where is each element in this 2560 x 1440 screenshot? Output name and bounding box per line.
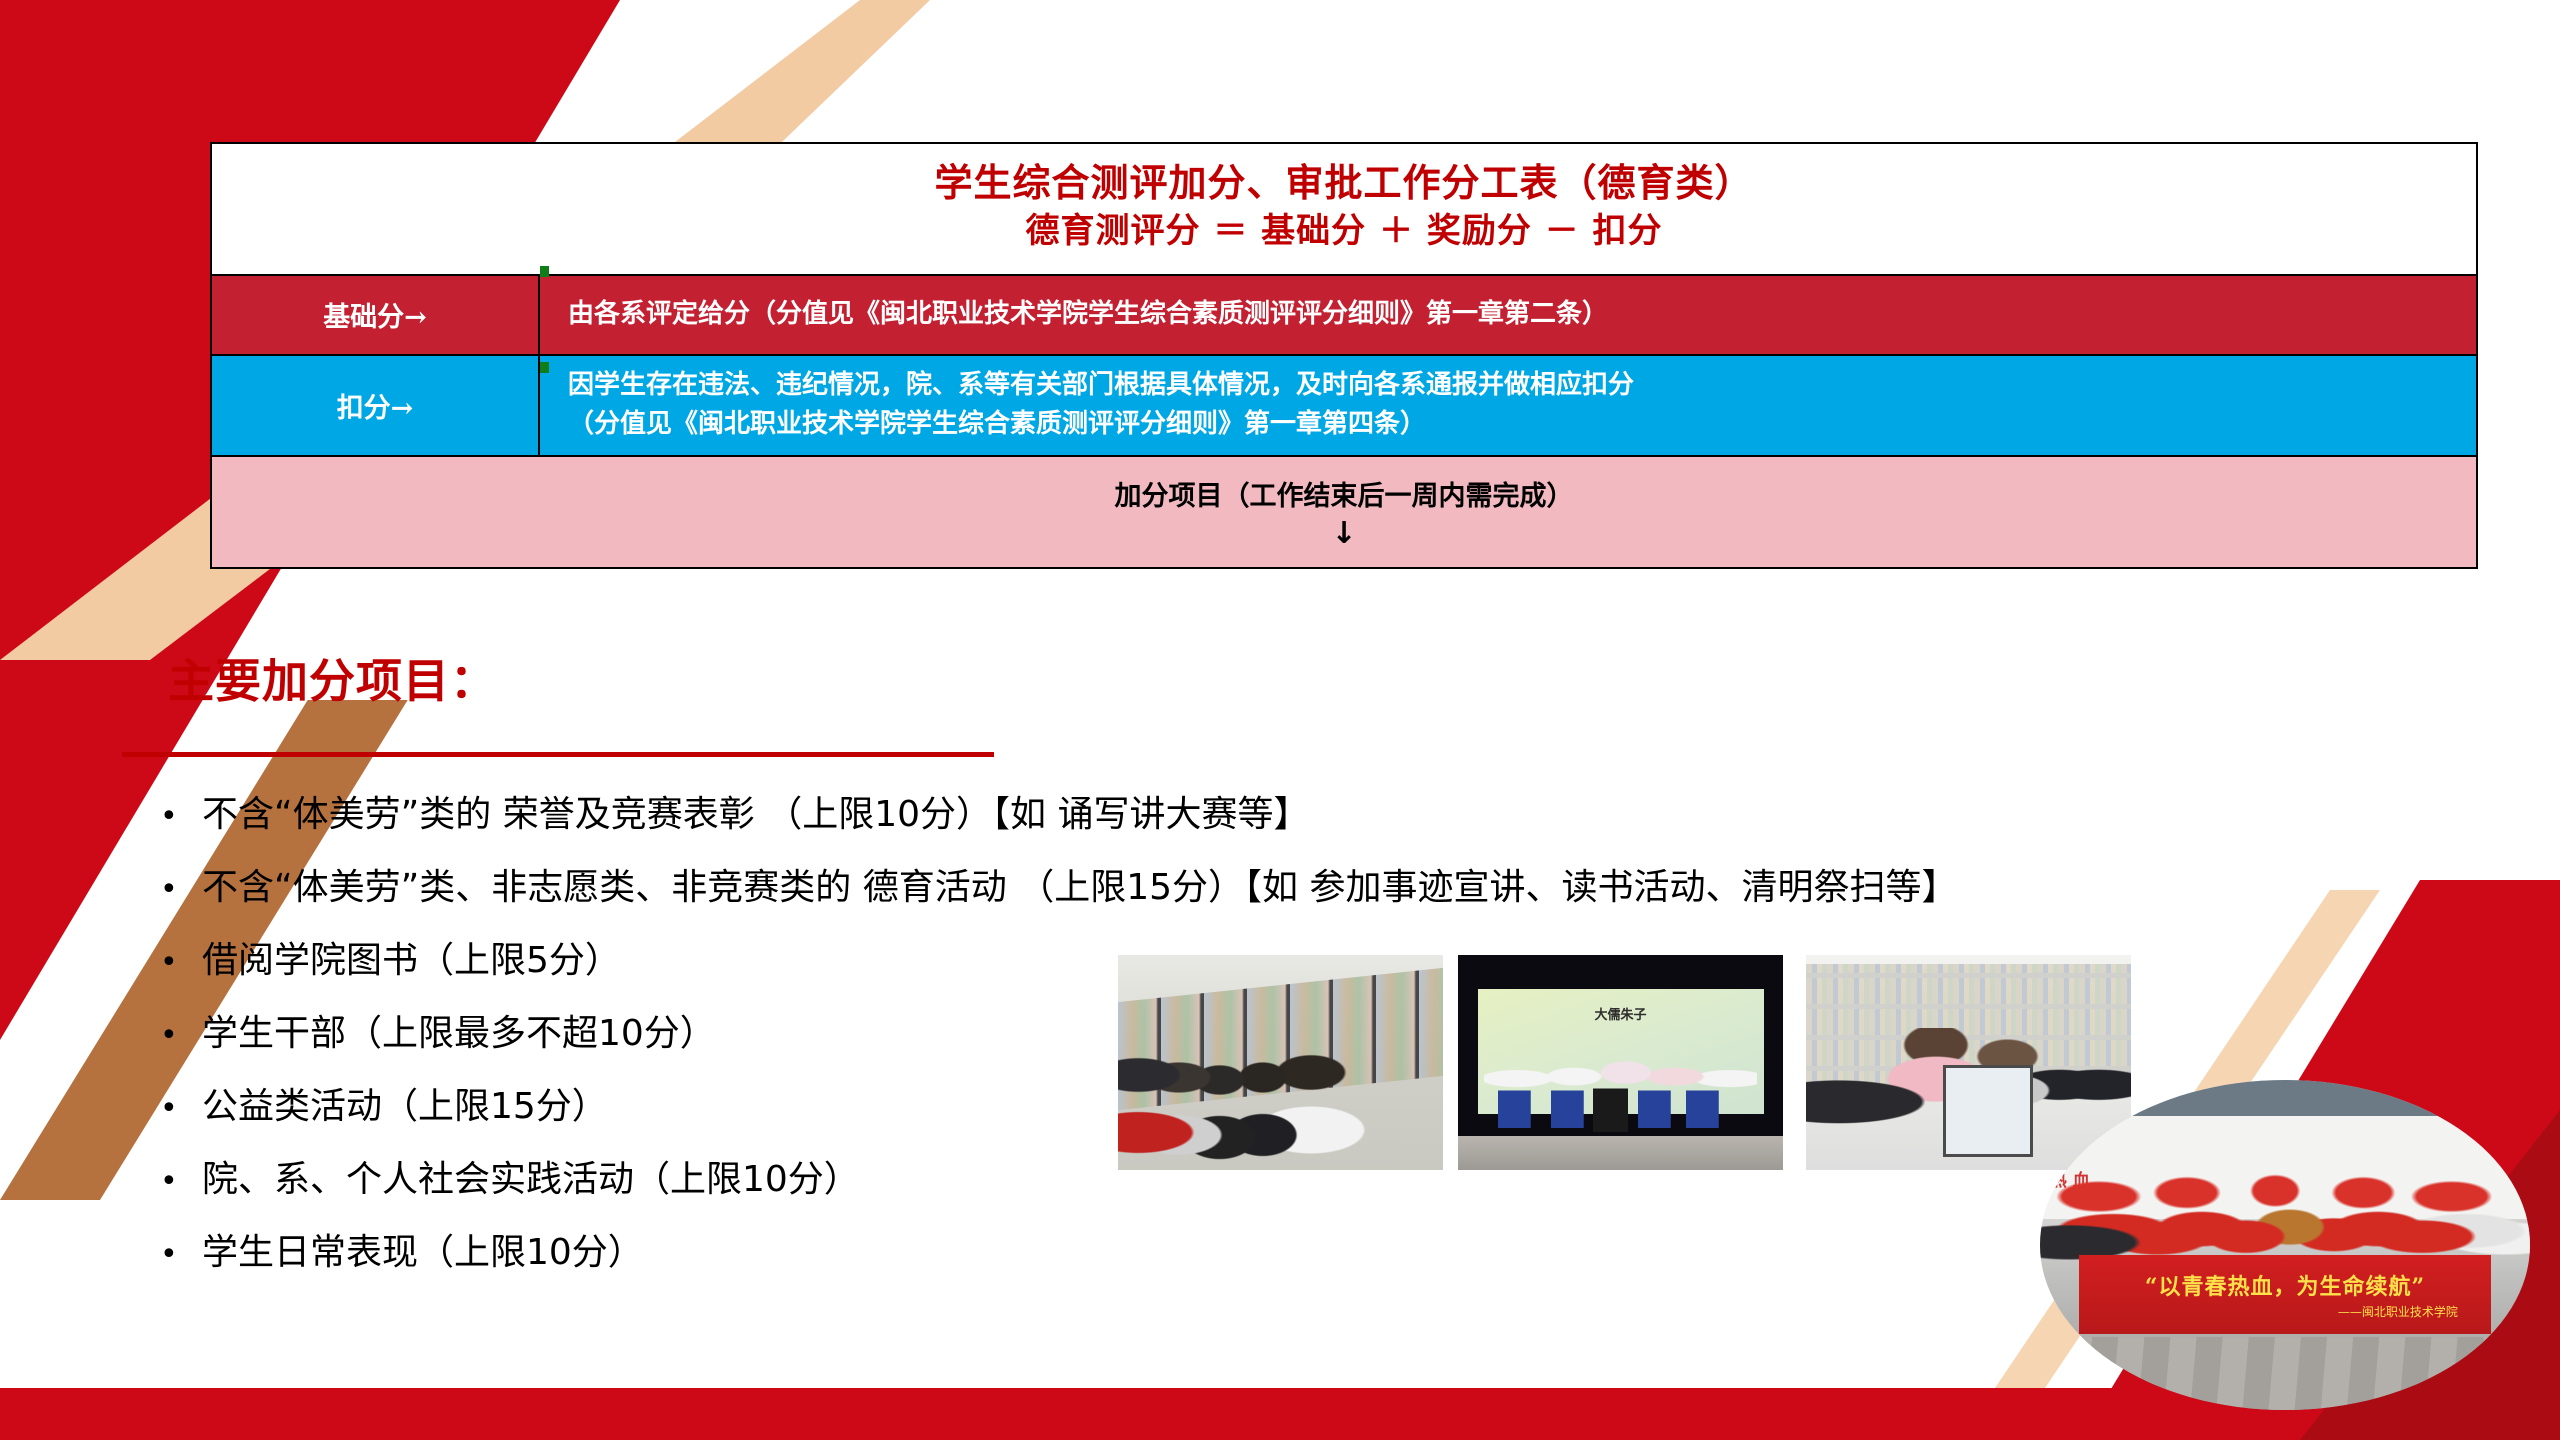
slide-canvas: 学生综合测评加分、审批工作分工表（德育类） 德育测评分 ＝ 基础分 ＋ 奖励分 … xyxy=(0,0,2560,1440)
list-item: • 不含“体美劳”类、非志愿类、非竞赛类的 德育活动 （上限15分）【如 参加事… xyxy=(160,858,1957,931)
list-item: • 学生日常表现（上限10分） xyxy=(160,1223,1957,1296)
heading-underline-rule xyxy=(122,752,994,757)
table-row-bonus-items: 加分项目（工作结束后一周内需完成） ↓ xyxy=(211,456,2477,568)
bullet-dot-icon: • xyxy=(160,802,202,832)
table-title-cell: 学生综合测评加分、审批工作分工表（德育类） 德育测评分 ＝ 基础分 ＋ 奖励分 … xyxy=(211,143,2477,275)
divider-tick-icon-top xyxy=(540,266,549,277)
banner-main-text: “以青春热血，为生命续航” xyxy=(2145,1269,2425,1301)
list-item: • 学生干部（上限最多不超10分） xyxy=(160,1004,1957,1077)
table-title-line1: 学生综合测评加分、审批工作分工表（德育类） xyxy=(222,158,2466,208)
down-arrow-icon: ↓ xyxy=(212,519,2476,549)
list-item-label: 不含“体美劳”类的 荣誉及竞赛表彰 （上限10分）【如 诵写讲大赛等】 xyxy=(202,785,1309,837)
table-row-deduction: 扣分→ 因学生存在违法、违纪情况，院、系等有关部门根据具体情况，及时向各系通报并… xyxy=(211,355,2477,456)
scoring-table: 学生综合测评加分、审批工作分工表（德育类） 德育测评分 ＝ 基础分 ＋ 奖励分 … xyxy=(210,142,2478,569)
bonus-items-text: 加分项目（工作结束后一周内需完成） xyxy=(1115,481,1574,512)
deduction-body-line2: （分值见《闽北职业技术学院学生综合素质测评评分细则》第一章第四条） xyxy=(568,405,2460,445)
divider-tick-icon-bottom xyxy=(540,362,549,373)
list-item-label: 院、系、个人社会实践活动（上限10分） xyxy=(202,1150,860,1202)
bullet-dot-icon: • xyxy=(160,1094,202,1124)
page-title: 主要加分项目： xyxy=(168,645,497,711)
list-item-label: 学生干部（上限最多不超10分） xyxy=(202,1004,716,1056)
table-title-line2: 德育测评分 ＝ 基础分 ＋ 奖励分 － 扣分 xyxy=(222,208,2466,256)
bonus-items-cell: 加分项目（工作结束后一周内需完成） ↓ xyxy=(211,456,2477,568)
list-item-label: 借阅学院图书（上限5分） xyxy=(202,931,621,983)
list-item: • 院、系、个人社会实践活动（上限10分） xyxy=(160,1150,1957,1223)
list-item: • 借阅学院图书（上限5分） xyxy=(160,931,1957,1004)
blood-donation-banner: “以青春热血，为生命续航” ——闽北职业技术学院 xyxy=(2079,1255,2491,1334)
list-item: • 公益类活动（上限15分） xyxy=(160,1077,1957,1150)
photo-blood-donation-art: 热血 “以青春热血，为生命续航” ——闽北职业技术学院 xyxy=(2040,1080,2530,1410)
list-item-label: 不含“体美劳”类、非志愿类、非竞赛类的 德育活动 （上限15分）【如 参加事迹宣… xyxy=(202,858,1957,910)
bonus-items-list: • 不含“体美劳”类的 荣誉及竞赛表彰 （上限10分）【如 诵写讲大赛等】 • … xyxy=(160,785,1957,1296)
base-score-body: 由各系评定给分（分值见《闽北职业技术学院学生综合素质测评评分细则》第一章第二条） xyxy=(539,275,2477,355)
list-item-label: 学生日常表现（上限10分） xyxy=(202,1223,644,1275)
bullet-dot-icon: • xyxy=(160,1167,202,1197)
list-item: • 不含“体美劳”类的 荣誉及竞赛表彰 （上限10分）【如 诵写讲大赛等】 xyxy=(160,785,1957,858)
bullet-dot-icon: • xyxy=(160,948,202,978)
banner-sub-text: ——闽北职业技术学院 xyxy=(2338,1303,2458,1320)
base-score-label: 基础分→ xyxy=(211,275,539,355)
base-score-body-line1: 由各系评定给分（分值见《闽北职业技术学院学生综合素质测评评分细则》第一章第二条） xyxy=(568,295,2460,335)
table-row-title: 学生综合测评加分、审批工作分工表（德育类） 德育测评分 ＝ 基础分 ＋ 奖励分 … xyxy=(211,143,2477,275)
photo-blood-donation-circle: 热血 “以青春热血，为生命续航” ——闽北职业技术学院 xyxy=(2040,1080,2530,1410)
table-row-base-score: 基础分→ 由各系评定给分（分值见《闽北职业技术学院学生综合素质测评评分细则》第一… xyxy=(211,275,2477,355)
deduction-label: 扣分→ xyxy=(211,355,539,456)
bullet-dot-icon: • xyxy=(160,1021,202,1051)
deduction-body: 因学生存在违法、违纪情况，院、系等有关部门根据具体情况，及时向各系通报并做相应扣… xyxy=(539,355,2477,456)
bullet-dot-icon: • xyxy=(160,1240,202,1270)
deduction-body-line1: 因学生存在违法、违纪情况，院、系等有关部门根据具体情况，及时向各系通报并做相应扣… xyxy=(568,366,2460,406)
list-item-label: 公益类活动（上限15分） xyxy=(202,1077,608,1129)
blood-donation-ground xyxy=(2040,1337,2530,1410)
bullet-dot-icon: • xyxy=(160,875,202,905)
